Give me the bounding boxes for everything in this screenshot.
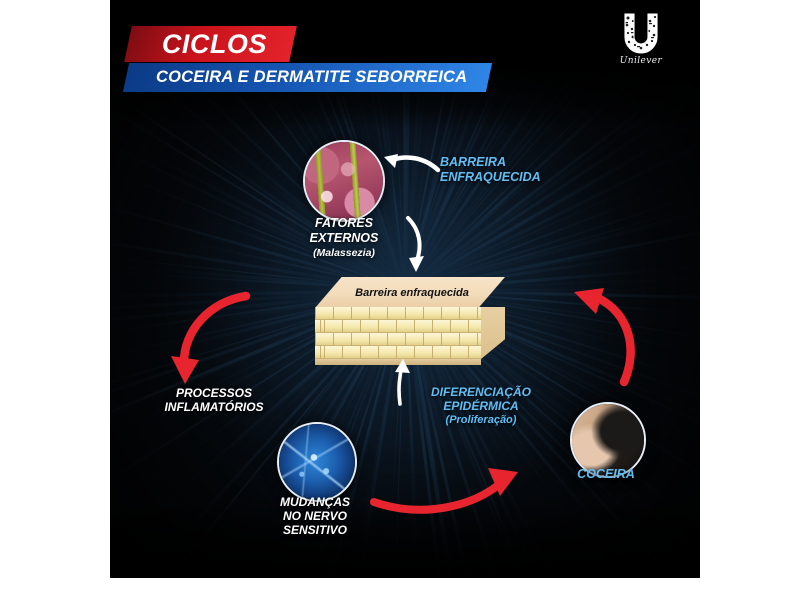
callout-line-1: BARREIRA	[440, 155, 541, 170]
label-sub: (Malassezia)	[292, 247, 396, 259]
brick-row	[315, 333, 481, 346]
callout-diferenciacao-epidermica: DIFERENCIAÇÃO EPIDÉRMICA (Proliferação)	[420, 385, 542, 427]
histology-photo	[305, 142, 383, 220]
callout-line-2: EPIDÉRMICA	[420, 399, 542, 413]
infographic-canvas: CICLOS COCEIRA E DERMATITE SEBORREICA	[0, 0, 810, 590]
node-fatores-externos-image	[303, 140, 385, 222]
brick-row	[315, 320, 481, 333]
label-line-3: SENSITIVO	[265, 523, 365, 537]
callout-line-1: PROCESSOS	[150, 386, 278, 400]
label-line-2: NO NERVO	[265, 509, 365, 523]
callout-line-1: DIFERENCIAÇÃO	[420, 385, 542, 399]
label-line-1: COCEIRA	[565, 467, 647, 482]
callout-sub: (Proliferação)	[420, 414, 542, 427]
arrow-nervo-to-coceira-icon	[368, 466, 528, 522]
title-banner-secondary: COCEIRA E DERMATITE SEBORREICA	[123, 63, 492, 92]
page-subtitle: COCEIRA E DERMATITE SEBORREICA	[156, 68, 467, 87]
unilever-logo: Unilever	[610, 12, 672, 66]
dark-artboard: CICLOS COCEIRA E DERMATITE SEBORREICA	[110, 0, 700, 578]
label-line-2: EXTERNOS	[292, 231, 396, 246]
brand-wordmark: Unilever	[610, 56, 672, 66]
callout-barreira-enfraquecida: BARREIRA ENFRAQUECIDA	[440, 155, 541, 185]
scratching-scalp-photo	[572, 404, 644, 476]
barrier-side-face	[481, 307, 505, 359]
arrow-difer-up-icon	[387, 358, 417, 406]
callout-line-2: INFLAMATÓRIOS	[150, 400, 278, 414]
arrow-to-barreira-callout-icon	[380, 150, 444, 180]
skin-barrier-diagram: Barreira enfraquecida	[315, 277, 505, 365]
label-line-1: FATORES	[292, 216, 396, 231]
barrier-top-surface: Barreira enfraquecida	[315, 277, 505, 308]
label-line-1: MUDANÇAS	[265, 495, 365, 509]
neuron-photo	[279, 424, 355, 500]
arrow-processos-inflamatorios-icon	[168, 278, 258, 388]
node-mudancas-nervo-image	[277, 422, 357, 502]
barrier-brick-layers	[315, 307, 481, 359]
label-mudancas-nervo-sensitivo: MUDANÇAS NO NERVO SENSITIVO	[265, 495, 365, 537]
brick-row	[315, 307, 481, 320]
arrow-coceira-up-icon	[558, 278, 648, 388]
title-banner-primary: CICLOS	[124, 26, 297, 62]
unilever-u-icon	[621, 12, 661, 54]
label-fatores-externos: FATORES EXTERNOS (Malassezia)	[292, 216, 396, 259]
callout-line-2: ENFRAQUECIDA	[440, 170, 541, 185]
barrier-label: Barreira enfraquecida	[355, 287, 469, 299]
label-coceira: COCEIRA	[565, 467, 647, 482]
arrow-fatores-down-icon	[396, 216, 436, 276]
callout-processos-inflamatorios: PROCESSOS INFLAMATÓRIOS	[150, 386, 278, 414]
page-title: CICLOS	[162, 29, 267, 60]
